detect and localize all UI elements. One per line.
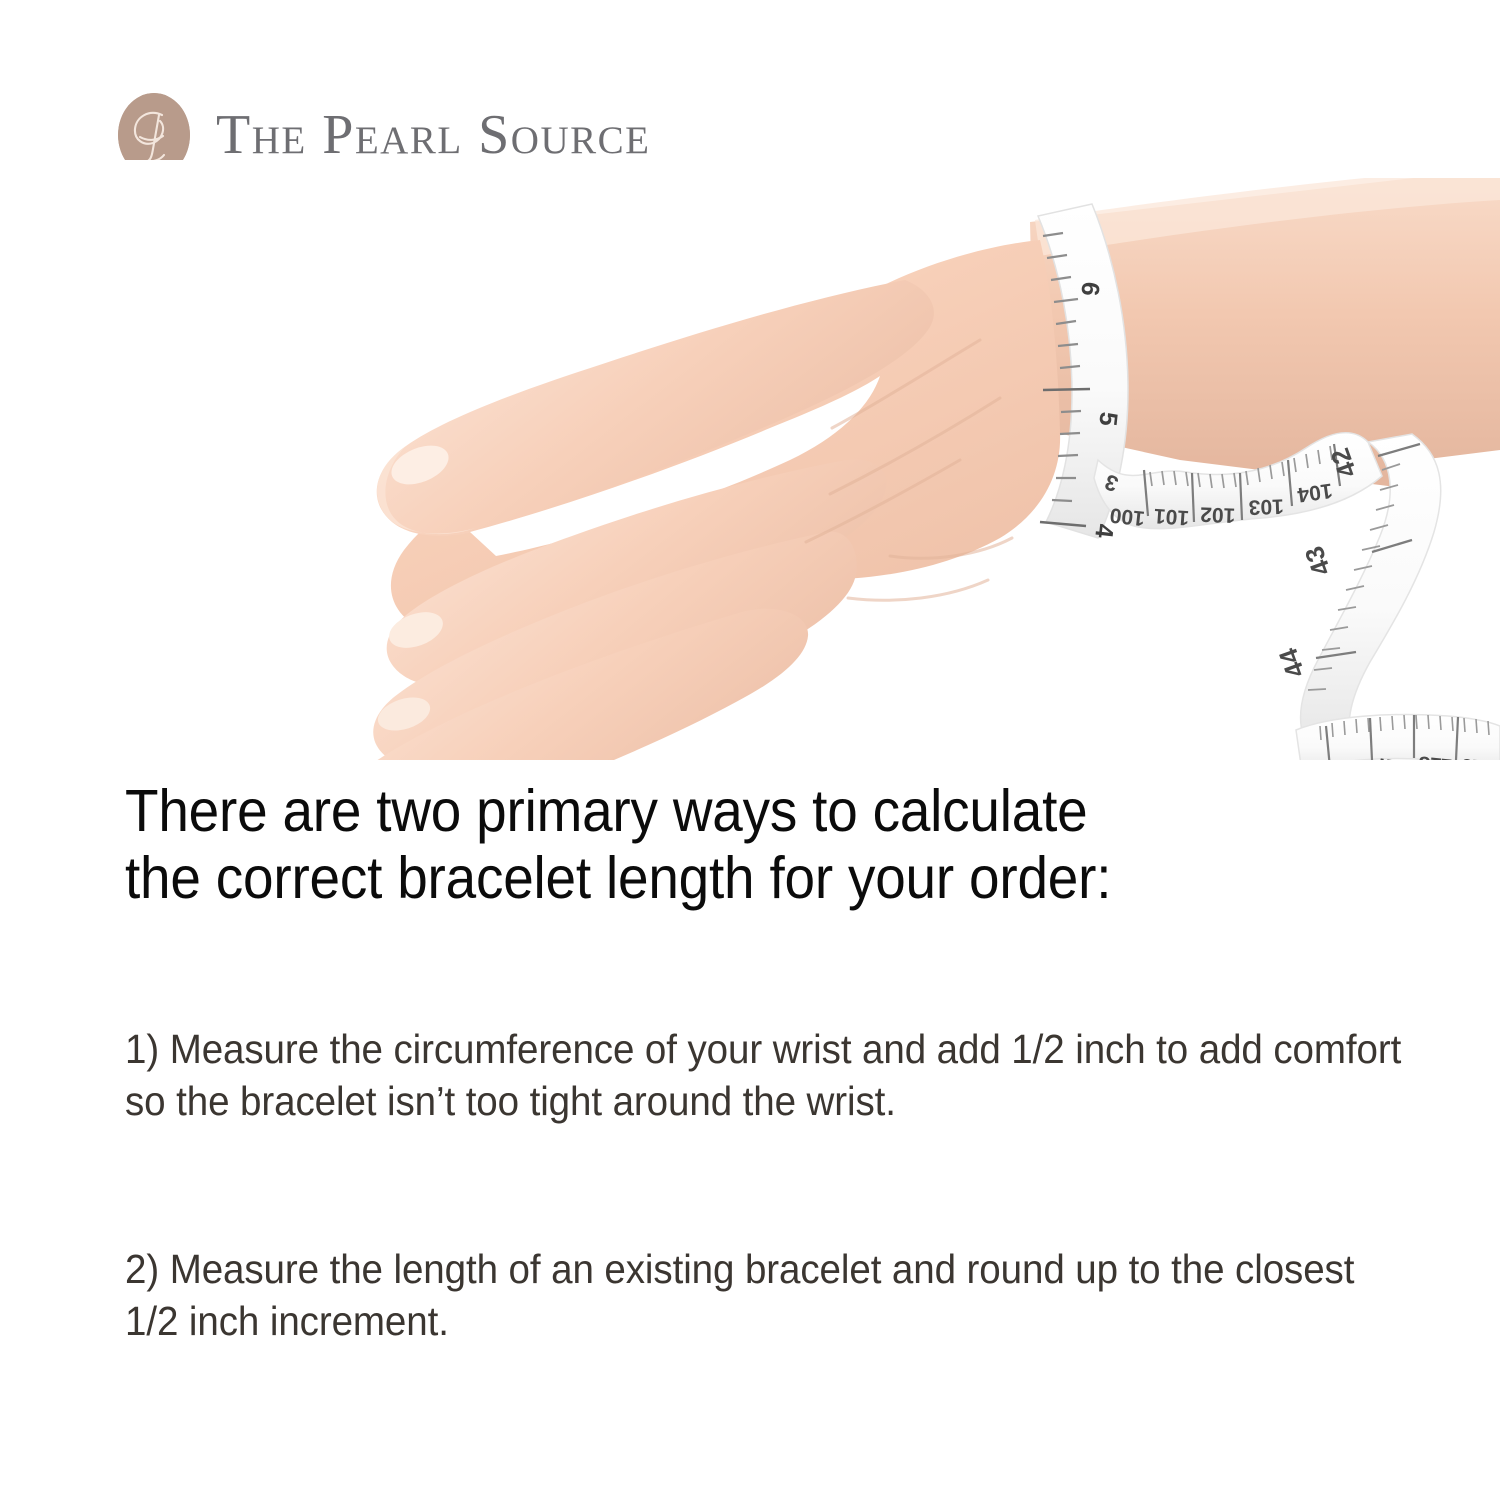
svg-text:104: 104 <box>1296 479 1334 507</box>
svg-text:43: 43 <box>1299 542 1337 579</box>
svg-text:100: 100 <box>1109 503 1146 530</box>
svg-text:44: 44 <box>1272 644 1310 682</box>
instruction-item-2: 2) Measure the length of an existing bra… <box>125 1243 1413 1348</box>
page-title: There are two primary ways to calculate … <box>125 778 1325 913</box>
svg-text:102: 102 <box>1200 502 1236 526</box>
instruction-item-1: 1) Measure the circumference of your wri… <box>125 1023 1413 1128</box>
svg-text:101: 101 <box>1153 504 1190 529</box>
brand-name: The Pearl Source <box>216 107 650 163</box>
svg-text:6: 6 <box>1075 280 1104 297</box>
hand-with-measuring-tape-photo: 6 5 4 <box>0 160 1500 780</box>
svg-text:103: 103 <box>1248 494 1284 518</box>
instructions-copy-block: There are two primary ways to calculate … <box>125 778 1415 913</box>
